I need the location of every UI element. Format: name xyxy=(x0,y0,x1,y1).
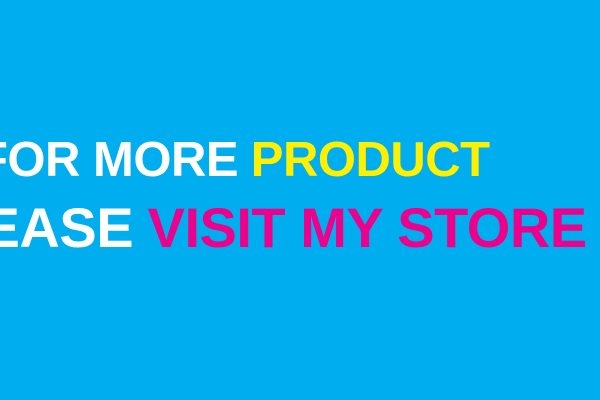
banner-text-block: FOR MOREPRODUCT PLEASEVISIT MY STORE xyxy=(0,0,600,400)
headline-line1-white-text: FOR MORE xyxy=(0,133,238,187)
headline-line2-magenta-text: VISIT MY STORE xyxy=(148,196,587,259)
headline-line1-yellow-text: PRODUCT xyxy=(251,133,490,187)
headline-line2-white-text: PLEASE xyxy=(0,196,133,259)
banner-headline-line-1: FOR MOREPRODUCT xyxy=(0,136,490,185)
banner-headline-line-2: PLEASEVISIT MY STORE xyxy=(0,200,587,256)
promo-banner: FOR MOREPRODUCT PLEASEVISIT MY STORE xyxy=(0,0,600,400)
